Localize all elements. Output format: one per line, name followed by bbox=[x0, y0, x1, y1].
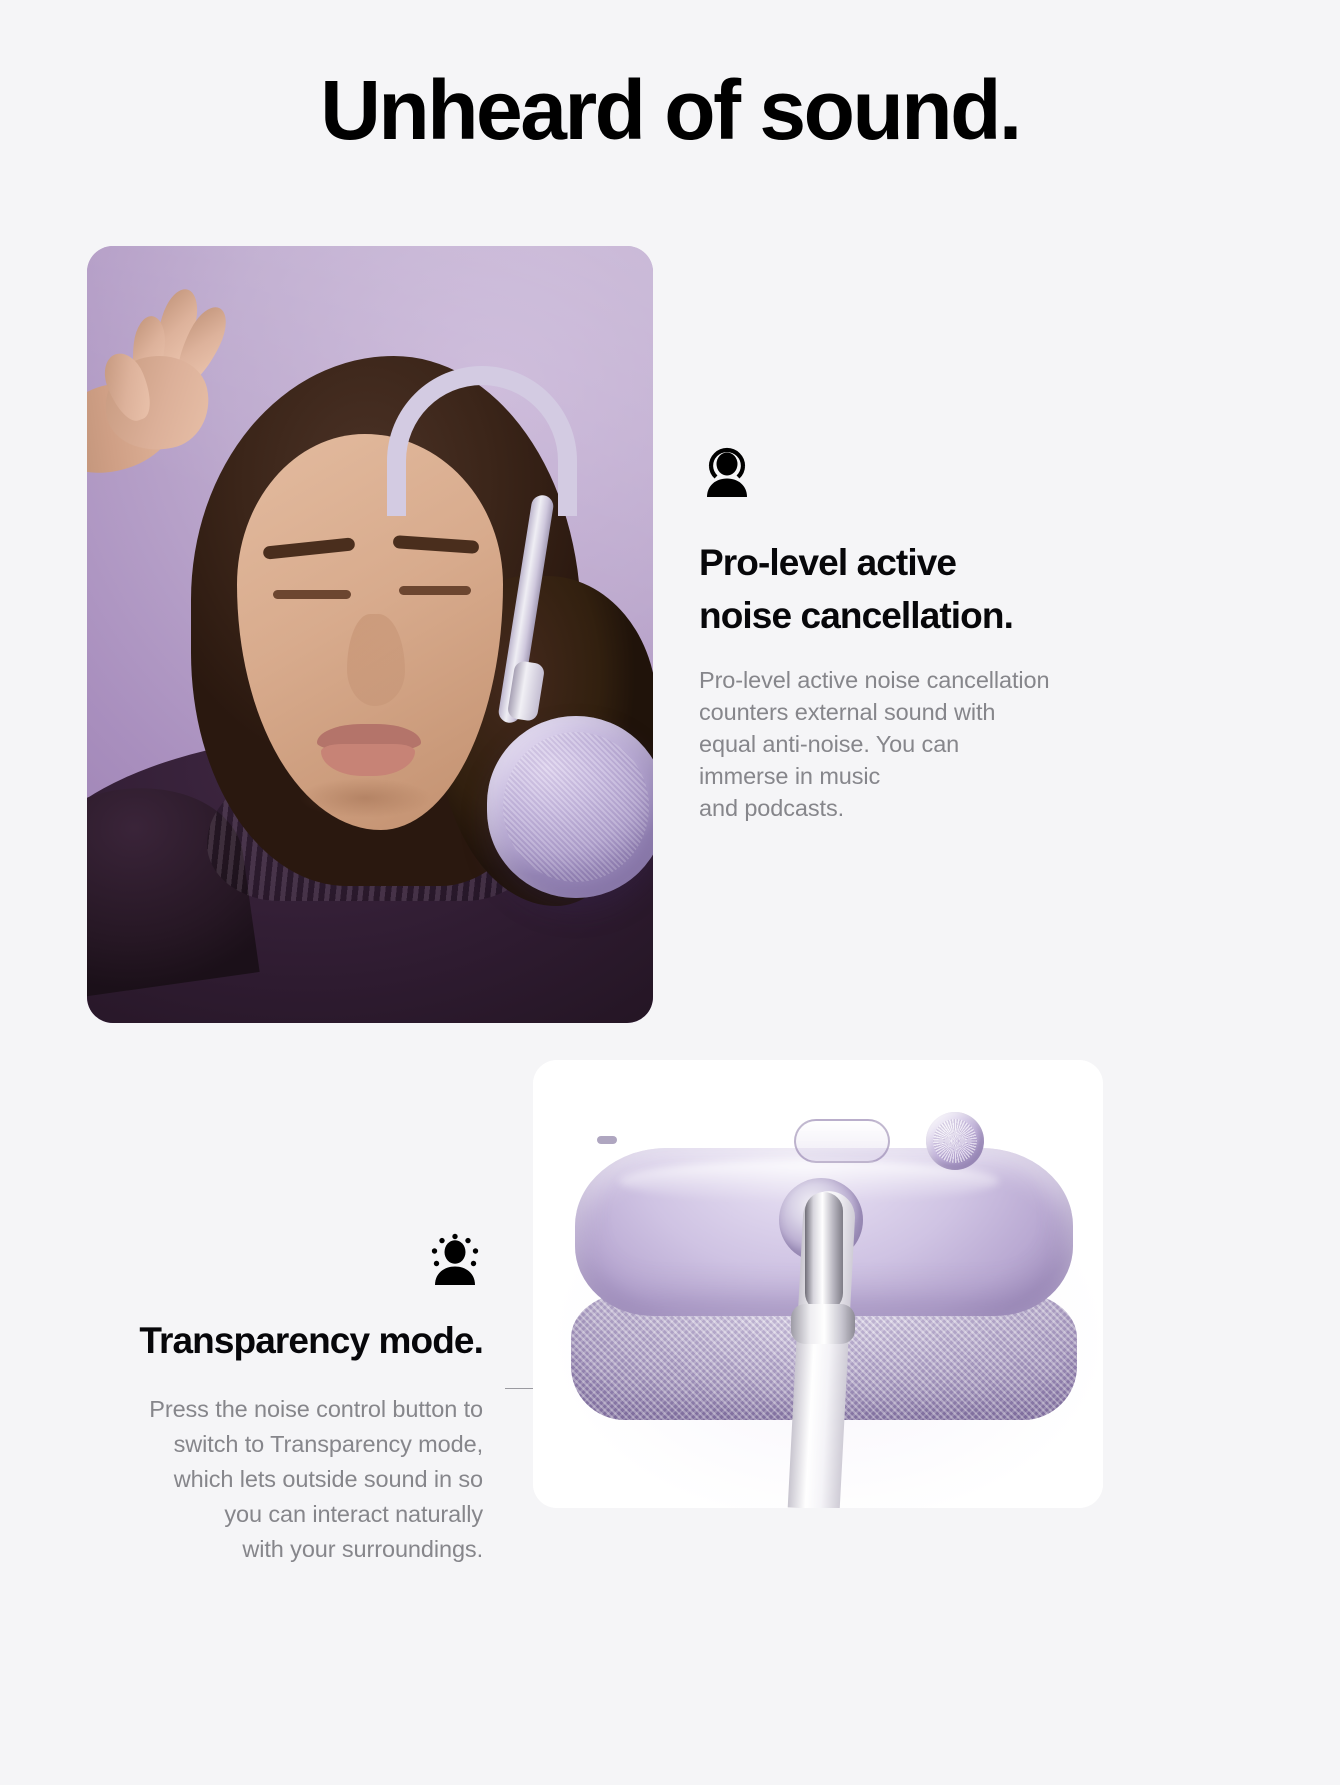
hero-brow-left bbox=[263, 537, 356, 560]
feature-body-line-3: equal anti-noise. You can bbox=[699, 731, 959, 757]
transparency-body-line-4: you can interact naturally bbox=[224, 1501, 483, 1527]
feature-body-line-1: Pro-level active noise cancellation bbox=[699, 667, 1050, 693]
hero-eye-left bbox=[273, 590, 351, 599]
ear-cup-mic-slot bbox=[597, 1136, 617, 1144]
noise-control-button[interactable] bbox=[794, 1119, 890, 1163]
headband-arm-stem bbox=[805, 1192, 843, 1312]
hero-chin-shadow bbox=[299, 778, 431, 818]
product-detail-card bbox=[533, 1060, 1103, 1508]
hero-ear-cushion-mesh bbox=[503, 732, 649, 882]
transparency-body-line-2: switch to Transparency mode, bbox=[174, 1431, 483, 1457]
hero-lip-bottom bbox=[321, 744, 415, 776]
feature-body-line-4: immerse in music bbox=[699, 763, 880, 789]
hero-headband bbox=[387, 366, 577, 746]
page-title: Unheard of sound. bbox=[0, 62, 1340, 158]
digital-crown[interactable] bbox=[926, 1112, 984, 1170]
feature-transparency-mode: Transparency mode. Press the noise contr… bbox=[58, 1228, 483, 1567]
feature-heading: Pro-level active noise cancellation. bbox=[699, 536, 1151, 642]
transparency-description: Press the noise control button to switch… bbox=[58, 1392, 483, 1567]
transparency-body-line-3: which lets outside sound in so bbox=[174, 1466, 483, 1492]
feature-heading-line-2: noise cancellation. bbox=[699, 595, 1013, 636]
hero-lifestyle-image bbox=[87, 246, 653, 1023]
transparency-body-line-1: Press the noise control button to bbox=[149, 1396, 483, 1422]
person-transparency-mode-icon bbox=[427, 1228, 483, 1286]
feature-description: Pro-level active noise cancellation coun… bbox=[699, 664, 1151, 824]
digital-crown-ridges bbox=[933, 1119, 977, 1163]
headband-arm-collar bbox=[791, 1304, 855, 1344]
feature-noise-cancellation: Pro-level active noise cancellation. Pro… bbox=[699, 440, 1151, 824]
feature-body-line-2: counters external sound with bbox=[699, 699, 995, 725]
person-noise-cancellation-icon bbox=[699, 440, 755, 498]
hero-headband-arc bbox=[387, 366, 577, 516]
transparency-heading: Transparency mode. bbox=[58, 1316, 483, 1366]
feature-body-line-5: and podcasts. bbox=[699, 795, 844, 821]
transparency-body-line-5: with your surroundings. bbox=[242, 1536, 483, 1562]
feature-heading-line-1: Pro-level active bbox=[699, 542, 956, 583]
hero-ear-cup bbox=[487, 716, 653, 898]
hero-hand bbox=[89, 266, 269, 466]
